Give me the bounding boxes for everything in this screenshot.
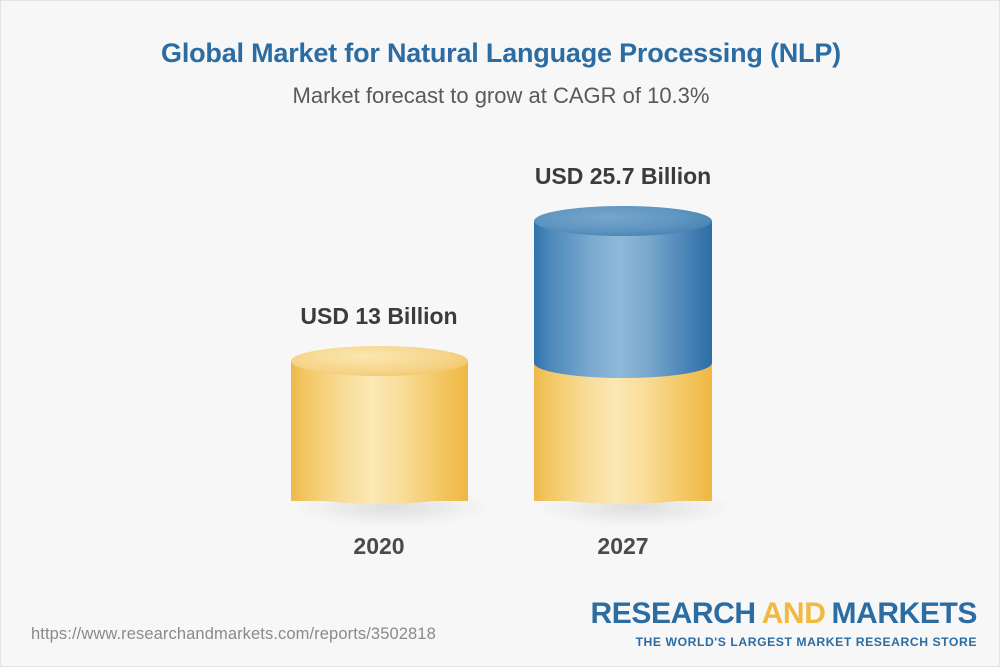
category-label-2027: 2027 — [473, 533, 773, 560]
bar-segment-2027-growth — [534, 221, 712, 363]
bar-value-label-2027: USD 25.7 Billion — [473, 163, 773, 190]
logo-word-research: RESEARCH — [591, 597, 756, 630]
report-url-link[interactable]: https://www.researchandmarkets.com/repor… — [31, 625, 436, 644]
bar-segment-2020-base — [291, 361, 468, 501]
bar-bottom-cap-2027 — [534, 474, 712, 504]
logo-word-and: AND — [762, 597, 826, 630]
infographic-canvas: Global Market for Natural Language Proce… — [0, 0, 1000, 667]
bar-segment-2027-base — [534, 363, 712, 501]
bar-segment-bottom-cap-2027 — [534, 348, 712, 378]
logo-tagline: THE WORLD'S LARGEST MARKET RESEARCH STOR… — [591, 636, 977, 648]
logo-word-markets: MARKETS — [831, 597, 977, 630]
logo-wordmark: RESEARCHANDMARKETS — [591, 599, 977, 629]
bar-value-label-2020: USD 13 Billion — [229, 303, 529, 330]
bar-top-cap-2027 — [534, 206, 712, 236]
bar-bottom-cap-2020 — [291, 474, 468, 504]
research-and-markets-logo[interactable]: RESEARCHANDMARKETS THE WORLD'S LARGEST M… — [591, 599, 977, 648]
bar-top-cap-2020 — [291, 346, 468, 376]
chart-plot-area: USD 13 Billion 2020 USD 25.7 Billion — [1, 1, 1000, 667]
bar-segment-body — [534, 221, 712, 363]
